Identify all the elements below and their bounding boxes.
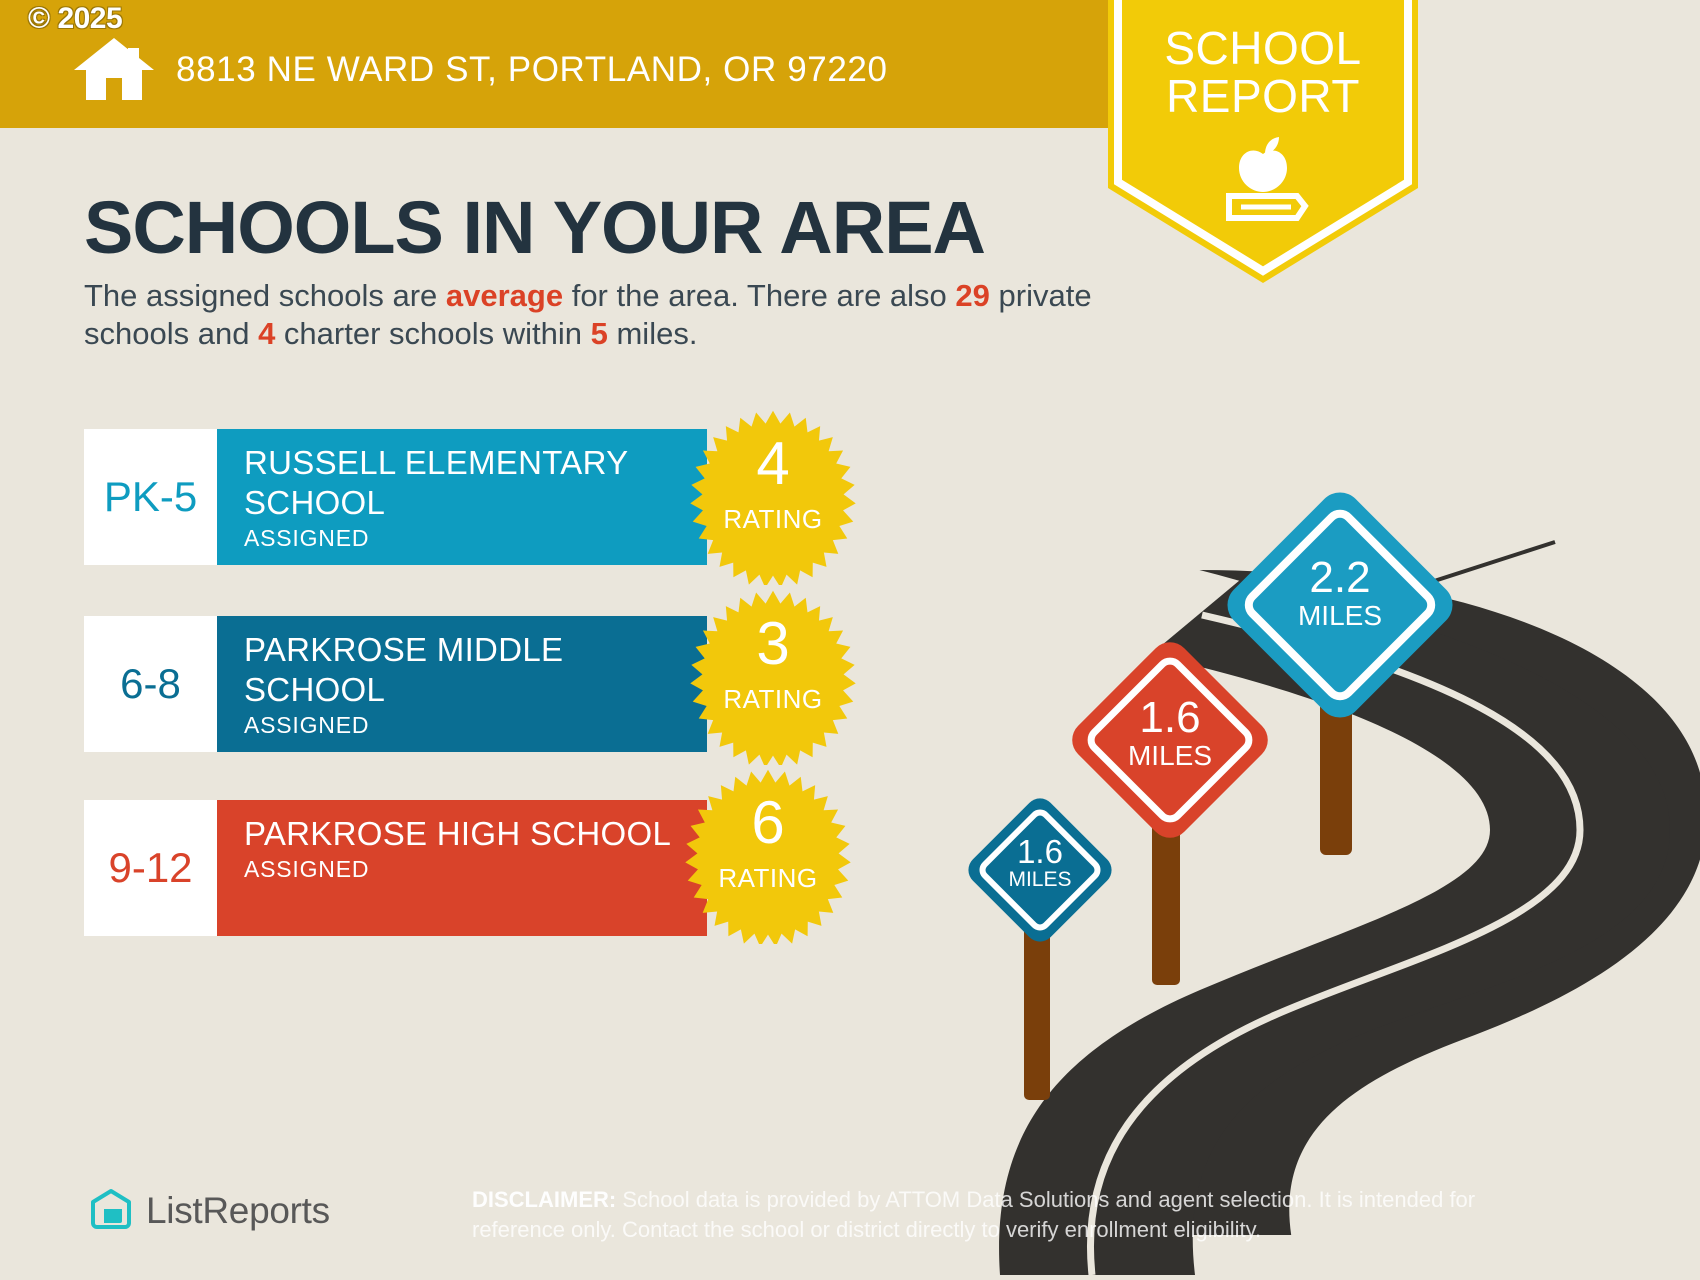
school-assignment-status: ASSIGNED: [244, 856, 707, 883]
badge-line-1: SCHOOL: [1108, 24, 1418, 72]
distance-sign-1-text: 1.6 MILES: [955, 835, 1125, 891]
property-address: 8813 NE WARD ST, PORTLAND, OR 97220: [176, 50, 888, 90]
rating-value: 6: [680, 792, 856, 854]
school-row[interactable]: 9-12 PARKROSE HIGH SCHOOL ASSIGNED: [84, 800, 707, 936]
summary-charter-count: 4: [258, 316, 275, 351]
school-info-bar: PARKROSE MIDDLE SCHOOL ASSIGNED: [217, 616, 707, 752]
distance-unit: MILES: [1055, 741, 1285, 771]
distance-value: 1.6: [955, 835, 1125, 869]
grade-range-badge: 9-12: [84, 800, 217, 936]
disclaimer-label: DISCLAIMER:: [472, 1187, 616, 1212]
summary-radius: 5: [591, 316, 608, 351]
home-icon: [72, 36, 156, 102]
badge-line-2: REPORT: [1108, 72, 1418, 120]
summary-text: The assigned schools are average for the…: [84, 277, 1094, 353]
rating-value: 3: [685, 613, 861, 675]
distance-sign-2-text: 1.6 MILES: [1055, 695, 1285, 771]
distance-value: 1.6: [1055, 695, 1285, 741]
summary-part-4: charter schools within: [275, 316, 590, 351]
rating-label: RATING: [680, 863, 856, 894]
rating-starburst: 4 RATING: [685, 409, 861, 585]
school-assignment-status: ASSIGNED: [244, 712, 707, 739]
grade-range-badge: PK-5: [84, 429, 217, 565]
summary-private-count: 29: [955, 278, 989, 313]
school-info-bar: RUSSELL ELEMENTARY SCHOOL ASSIGNED: [217, 429, 707, 565]
rating-label: RATING: [685, 504, 861, 535]
apple-on-book-icon: [1213, 136, 1313, 226]
disclaimer-text: DISCLAIMER: School data is provided by A…: [472, 1185, 1482, 1245]
summary-part-5: miles.: [608, 316, 698, 351]
listreports-house-icon: [88, 1188, 134, 1234]
distance-sign-3-text: 2.2 MILES: [1210, 555, 1470, 631]
listreports-logo[interactable]: ListReports: [88, 1188, 330, 1234]
rating-starburst: 6 RATING: [680, 768, 856, 944]
rating-starburst: 3 RATING: [685, 589, 861, 765]
listreports-wordmark: ListReports: [146, 1190, 330, 1232]
summary-part-1: The assigned schools are: [84, 278, 446, 313]
badge-title: SCHOOL REPORT: [1108, 24, 1418, 120]
school-name: PARKROSE HIGH SCHOOL: [244, 814, 707, 854]
summary-rating-word: average: [446, 278, 563, 313]
rating-value: 4: [685, 433, 861, 495]
distance-unit: MILES: [955, 869, 1125, 891]
copyright-watermark: © 2025: [28, 2, 122, 36]
grade-range-badge: 6-8: [84, 616, 217, 752]
school-report-badge: SCHOOL REPORT: [1108, 0, 1418, 293]
school-name: RUSSELL ELEMENTARY SCHOOL: [244, 443, 707, 523]
school-name: PARKROSE MIDDLE SCHOOL: [244, 630, 707, 710]
school-row[interactable]: 6-8 PARKROSE MIDDLE SCHOOL ASSIGNED: [84, 616, 707, 752]
distance-value: 2.2: [1210, 555, 1470, 601]
rating-label: RATING: [685, 684, 861, 715]
summary-part-2: for the area. There are also: [563, 278, 955, 313]
school-row[interactable]: PK-5 RUSSELL ELEMENTARY SCHOOL ASSIGNED: [84, 429, 707, 565]
school-info-bar: PARKROSE HIGH SCHOOL ASSIGNED: [217, 800, 707, 936]
road-scene: 2.2 MILES 1.6 MILES 1.6 MILES: [880, 430, 1700, 1275]
disclaimer-body: School data is provided by ATTOM Data So…: [472, 1187, 1475, 1242]
school-assignment-status: ASSIGNED: [244, 525, 707, 552]
page-title: SCHOOLS IN YOUR AREA: [84, 185, 985, 270]
